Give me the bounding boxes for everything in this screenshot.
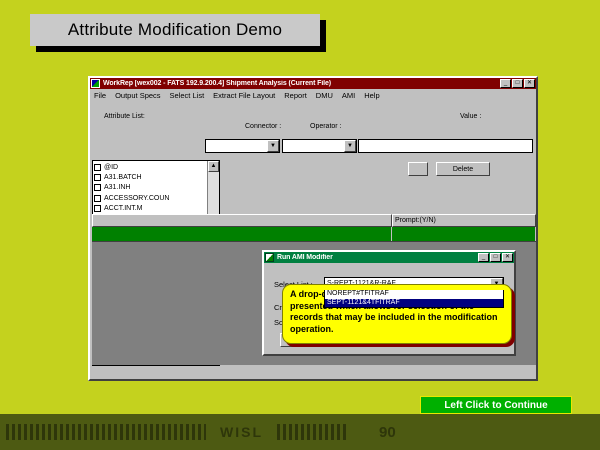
checkbox-icon[interactable] xyxy=(94,205,101,212)
slide-page-number: 90 xyxy=(379,424,396,441)
label-connector: Connector : xyxy=(245,123,281,130)
connector-dropdown[interactable]: ▼ xyxy=(205,139,280,153)
title-banner-plate: Attribute Modification Demo xyxy=(30,14,320,46)
menu-item-help[interactable]: Help xyxy=(364,91,379,100)
list-item-label: ACCESSORY.COUN xyxy=(104,195,169,202)
menu-item-report[interactable]: Report xyxy=(284,91,307,100)
continue-button-label: Left Click to Continue xyxy=(444,400,547,411)
label-attribute-list: Attribute List: xyxy=(104,113,145,120)
menu-item-file[interactable]: File xyxy=(94,91,106,100)
checkbox-icon[interactable] xyxy=(94,174,101,181)
dialog-icon xyxy=(265,253,274,262)
app-icon xyxy=(91,79,100,88)
list-item-label: A31.INH xyxy=(104,184,130,191)
dialog-title: Run AMI Modifier xyxy=(277,254,478,261)
app-window-controls: _ □ ✕ xyxy=(500,79,535,88)
menu-item-select-list[interactable]: Select List xyxy=(170,91,205,100)
dialog-close-button[interactable]: ✕ xyxy=(502,253,513,262)
app-titlebar: WorkRep [wex002 - FATS 192.9.200.4] Ship… xyxy=(90,78,536,89)
dialog-window-controls: _ □ ✕ xyxy=(478,253,513,262)
grid-header-cell-blank[interactable] xyxy=(92,214,392,227)
checkbox-icon[interactable] xyxy=(94,164,101,171)
menu-item-dmu[interactable]: DMU xyxy=(316,91,333,100)
delete-button[interactable]: Delete xyxy=(436,162,490,176)
grid-header-cell-prompt[interactable]: Prompt:(Y/N) xyxy=(392,214,536,227)
list-item[interactable]: A31.BATCH xyxy=(94,172,207,182)
input-row: ▼ ▼ xyxy=(90,139,536,155)
select-list-dropdown-options[interactable]: NOREPT#TFITRAF SEPT-1121&4TFITRAF xyxy=(324,290,504,308)
operator-dropdown[interactable]: ▼ xyxy=(282,139,357,153)
menu-item-ami[interactable]: AMI xyxy=(342,91,355,100)
minimize-button[interactable]: _ xyxy=(500,79,511,88)
slide-footer-bar: WISL 90 xyxy=(0,414,600,450)
footer-stripes-right xyxy=(277,424,349,440)
checkbox-icon[interactable] xyxy=(94,195,101,202)
app-menubar: File Output Specs Select List Extract Fi… xyxy=(90,89,536,101)
list-item[interactable]: ACCT.INT.M xyxy=(94,203,207,213)
operator-dropdown-value xyxy=(283,140,344,152)
dropdown-option[interactable]: NOREPT#TFITRAF xyxy=(325,290,503,299)
list-item-label: @ID xyxy=(104,164,118,171)
checkbox-icon[interactable] xyxy=(94,184,101,191)
dialog-minimize-button[interactable]: _ xyxy=(478,253,489,262)
list-item[interactable]: @ID xyxy=(94,162,207,172)
chevron-down-icon[interactable]: ▼ xyxy=(344,140,356,152)
connector-dropdown-value xyxy=(206,140,267,152)
list-item[interactable]: A31.INH xyxy=(94,183,207,193)
list-item-label: A31.BATCH xyxy=(104,174,142,181)
footer-brand-label: WISL xyxy=(220,424,263,440)
scroll-up-icon[interactable]: ▲ xyxy=(208,161,219,172)
grid-cell-prompt[interactable] xyxy=(392,227,536,241)
list-item-label: ACCT.INT.M xyxy=(104,205,143,212)
dialog-maximize-button[interactable]: □ xyxy=(490,253,501,262)
close-button[interactable]: ✕ xyxy=(524,79,535,88)
menu-item-extract-file-layout[interactable]: Extract File Layout xyxy=(213,91,275,100)
maximize-button[interactable]: □ xyxy=(512,79,523,88)
dropdown-option-selected[interactable]: SEPT-1121&4TFITRAF xyxy=(325,299,503,308)
left-click-to-continue-button[interactable]: Left Click to Continue xyxy=(420,396,572,414)
page-title: Attribute Modification Demo xyxy=(68,20,282,40)
spare-small-button[interactable] xyxy=(408,162,428,176)
dialog-titlebar: Run AMI Modifier _ □ ✕ xyxy=(264,252,514,263)
grid-cell-blank[interactable] xyxy=(92,227,392,241)
field-label-row: Attribute List: Connector : Operator : V… xyxy=(90,101,536,139)
footer-stripes-left xyxy=(6,424,206,440)
app-window-title: WorkRep [wex002 - FATS 192.9.200.4] Ship… xyxy=(103,80,500,87)
list-item[interactable]: ACCESSORY.COUN xyxy=(94,193,207,203)
slide-title-banner: Attribute Modification Demo xyxy=(30,14,320,46)
value-input[interactable] xyxy=(358,139,533,153)
chevron-down-icon[interactable]: ▼ xyxy=(267,140,279,152)
grid-selected-row[interactable] xyxy=(92,227,536,241)
menu-item-output-specs[interactable]: Output Specs xyxy=(115,91,160,100)
grid-header-row: Prompt:(Y/N) xyxy=(92,214,536,227)
label-operator: Operator : xyxy=(310,123,342,130)
label-value: Value : xyxy=(460,113,481,120)
